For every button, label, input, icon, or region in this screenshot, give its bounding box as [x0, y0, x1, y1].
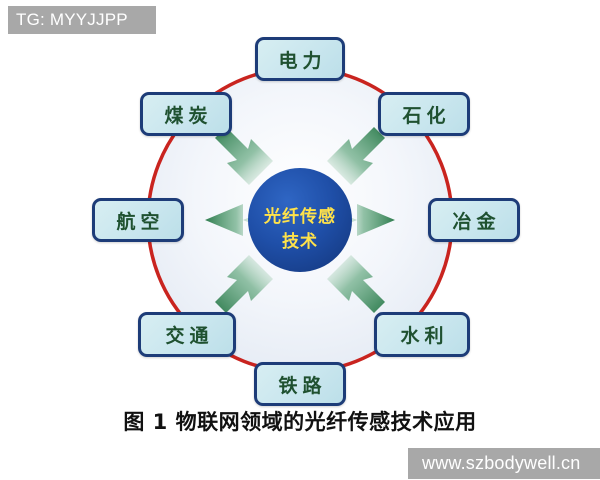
figure-caption: 图 1 物联网领域的光纤传感技术应用 — [0, 406, 600, 436]
node-label: 交通 — [160, 321, 213, 348]
node-petrochemical[interactable]: 石化 — [378, 92, 470, 136]
figure-canvas: TG: MYYJJPP — [0, 0, 600, 480]
node-coal[interactable]: 煤炭 — [140, 92, 232, 136]
node-metallurgy[interactable]: 冶金 — [428, 198, 520, 242]
node-label: 铁路 — [273, 371, 326, 398]
iot-fiber-sensing-diagram: 光纤传感 技术 电力 煤炭 石化 航空 冶金 交通 水利 铁路 — [0, 20, 600, 400]
center-label-line1: 光纤传感 — [263, 206, 336, 227]
node-label: 电力 — [273, 46, 326, 73]
node-transportation[interactable]: 交通 — [138, 312, 236, 357]
node-electric-power[interactable]: 电力 — [255, 37, 345, 81]
node-aviation[interactable]: 航空 — [92, 198, 184, 242]
node-label: 煤炭 — [159, 101, 212, 128]
node-railway[interactable]: 铁路 — [254, 362, 346, 406]
node-label: 水利 — [395, 321, 448, 348]
node-label: 航空 — [111, 207, 164, 234]
center-label-line2: 技术 — [282, 231, 318, 252]
watermark-bottom-right: www.szbodywell.cn — [408, 448, 600, 479]
node-label: 石化 — [397, 101, 450, 128]
node-water-conservancy[interactable]: 水利 — [374, 312, 470, 357]
node-label: 冶金 — [447, 207, 500, 234]
